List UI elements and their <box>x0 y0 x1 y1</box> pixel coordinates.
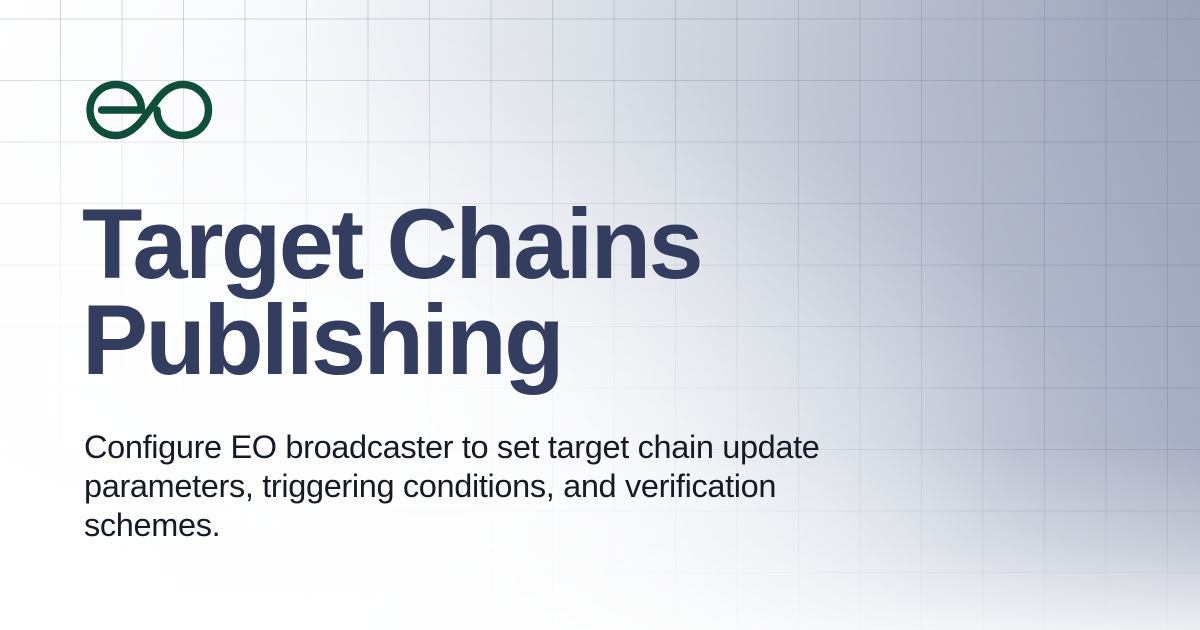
card-content: Target Chains Publishing Configure EO br… <box>0 0 1200 630</box>
page-title: Target Chains Publishing <box>82 196 782 388</box>
page-subtitle: Configure EO broadcaster to set target c… <box>84 428 884 545</box>
eo-infinity-logo-icon <box>79 80 219 140</box>
og-card: Target Chains Publishing Configure EO br… <box>0 0 1200 630</box>
